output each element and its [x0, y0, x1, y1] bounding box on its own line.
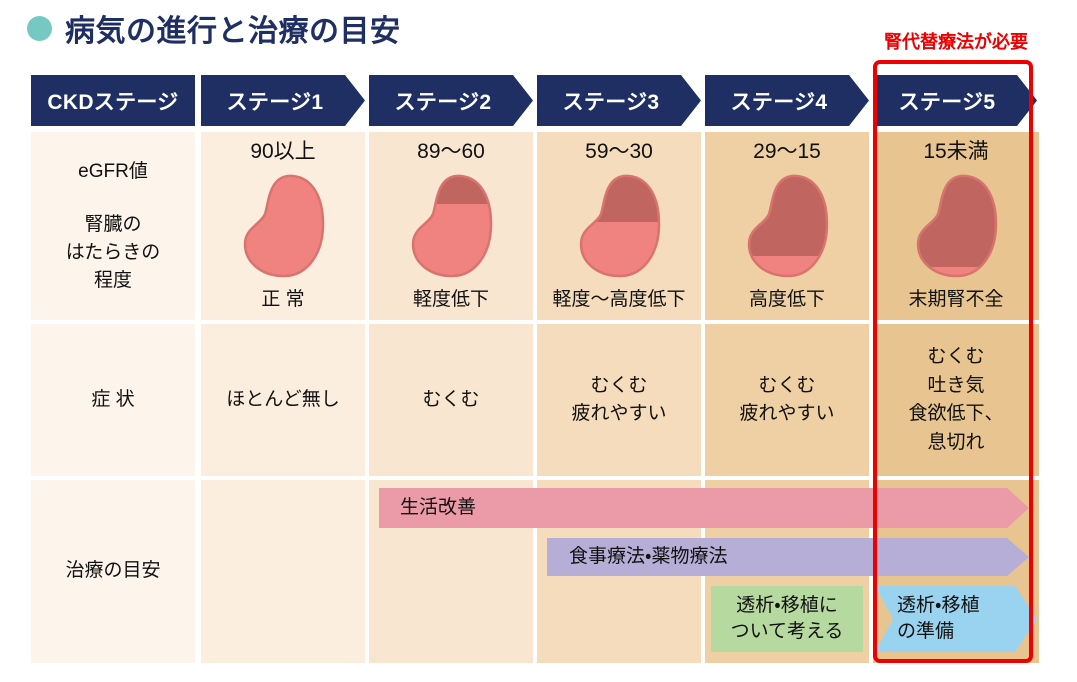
arrow-line: ついて考える [731, 619, 844, 645]
kidney-icon-stage-2 [403, 170, 499, 282]
row-label-kidney-function: eGFR値 腎臓の はたらきの 程度 [31, 132, 195, 320]
symptom-line: 息切れ [908, 429, 1003, 458]
header-stage-1: ステージ1 [201, 75, 365, 126]
symptom-lines-stage-1: ほとんど無し [226, 386, 339, 415]
egfr-value-stage-1: 90以上 [250, 141, 315, 162]
row-label-treatment: 治療の目安 [31, 480, 195, 663]
arrow-line: 透析・移植 [897, 593, 979, 619]
symptom-lines-stage-3: むくむ 疲れやすい [571, 372, 666, 429]
severity-stage-4: 高度低下 [749, 290, 825, 309]
treatment-arrow-diet-drug-text: 食事療法・薬物療法 [569, 544, 727, 570]
symptom-line: むくむ [571, 372, 666, 401]
page-title: 病気の進行と治療の目安 [65, 6, 401, 50]
severity-stage-5: 末期腎不全 [908, 290, 1003, 309]
header-stage-4: ステージ4 [705, 75, 869, 126]
symptoms-label: 症 状 [91, 386, 134, 415]
kidney-label-line-3: 程度 [66, 267, 161, 295]
page-title-row: 病気の進行と治療の目安 [27, 6, 401, 50]
treatment-label-text: 治療の目安 [65, 557, 160, 586]
severity-stage-2: 軽度低下 [413, 290, 489, 309]
symptom-lines-stage-5: むくむ 吐き気 食欲低下、 息切れ [908, 343, 1003, 457]
kidney-label-line-1: 腎臓の [66, 211, 161, 239]
treatment-arrow-diet-drug[interactable]: 食事療法・薬物療法 [547, 538, 1029, 576]
arrow-line: 食事療法・薬物療法 [569, 544, 727, 570]
header-stage-3: ステージ3 [537, 75, 701, 126]
kidney-icon-stage-5 [908, 170, 1004, 282]
egfr-value-stage-2: 89〜60 [417, 141, 485, 162]
header-stage-2: ステージ2 [369, 75, 533, 126]
header-label-cell: CKDステージ [31, 75, 195, 126]
treatment-arrow-lifestyle[interactable]: 生活改善 [379, 488, 1029, 528]
arrow-line: 生活改善 [400, 495, 476, 521]
symptom-cell-stage-3: むくむ 疲れやすい [537, 324, 701, 476]
ckd-stage-table: CKDステージ ステージ1 ステージ2 ステージ3 ステージ4 ステージ5 eG… [31, 75, 1041, 663]
symptom-line: 疲れやすい [739, 400, 834, 429]
symptom-line: むくむ [422, 386, 479, 415]
treatment-box-consider-dialysis-text: 透析・移植に ついて考える [731, 593, 844, 644]
treatment-label: 治療の目安 [65, 557, 160, 586]
symptom-lines-stage-2: むくむ [422, 386, 479, 415]
treatment-box-consider-dialysis[interactable]: 透析・移植に ついて考える [711, 586, 863, 652]
egfr-value-stage-5: 15未満 [923, 141, 988, 162]
header-stage-5: ステージ5 [873, 75, 1037, 126]
symptoms-label-text: 症 状 [91, 386, 134, 415]
row-label-kidney-stack: 腎臓の はたらきの 程度 [66, 211, 161, 294]
symptom-line: 吐き気 [908, 372, 1003, 401]
symptom-line: 疲れやすい [571, 400, 666, 429]
symptom-lines-stage-4: むくむ 疲れやすい [739, 372, 834, 429]
egfr-value-stage-4: 29〜15 [753, 141, 821, 162]
kidney-cell-stage-3: 59〜30 軽度〜高度低下 [537, 132, 701, 320]
arrow-line: の準備 [897, 619, 979, 645]
egfr-value-stage-3: 59〜30 [585, 141, 653, 162]
kidney-cell-stage-4: 29〜15 高度低下 [705, 132, 869, 320]
arrow-line: 透析・移植に [731, 593, 844, 619]
bullet-icon [27, 16, 52, 41]
symptom-line: むくむ [739, 372, 834, 401]
treatment-arrow-prepare-dialysis-text: 透析・移植 の準備 [897, 593, 979, 644]
kidney-cell-stage-2: 89〜60 軽度低下 [369, 132, 533, 320]
symptom-line: 食欲低下、 [908, 400, 1003, 429]
kidney-icon-stage-3 [571, 170, 667, 282]
kidney-icon-stage-1 [235, 170, 331, 282]
kidney-cell-stage-1: 90以上 正 常 [201, 132, 365, 320]
kidney-icon-stage-4 [739, 170, 835, 282]
callout-label: 腎代替療法が必要 [871, 28, 1041, 54]
row-label-symptoms: 症 状 [31, 324, 195, 476]
symptom-line: ほとんど無し [226, 386, 339, 415]
kidney-label-line-2: はたらきの [66, 239, 161, 267]
symptom-cell-stage-5: むくむ 吐き気 食欲低下、 息切れ [873, 324, 1039, 476]
symptom-cell-stage-2: むくむ [369, 324, 533, 476]
symptom-cell-stage-4: むくむ 疲れやすい [705, 324, 869, 476]
treatment-cell-stage-1 [201, 480, 365, 663]
severity-stage-1: 正 常 [261, 290, 304, 309]
treatment-arrow-lifestyle-text: 生活改善 [400, 495, 476, 521]
severity-stage-3: 軽度〜高度低下 [552, 290, 685, 309]
treatment-arrow-prepare-dialysis[interactable]: 透析・移植 の準備 [875, 586, 1037, 652]
row-label-egfr: eGFR値 [78, 158, 148, 186]
kidney-cell-stage-5: 15未満 末期腎不全 [873, 132, 1039, 320]
symptom-line: むくむ [908, 343, 1003, 372]
symptom-cell-stage-1: ほとんど無し [201, 324, 365, 476]
